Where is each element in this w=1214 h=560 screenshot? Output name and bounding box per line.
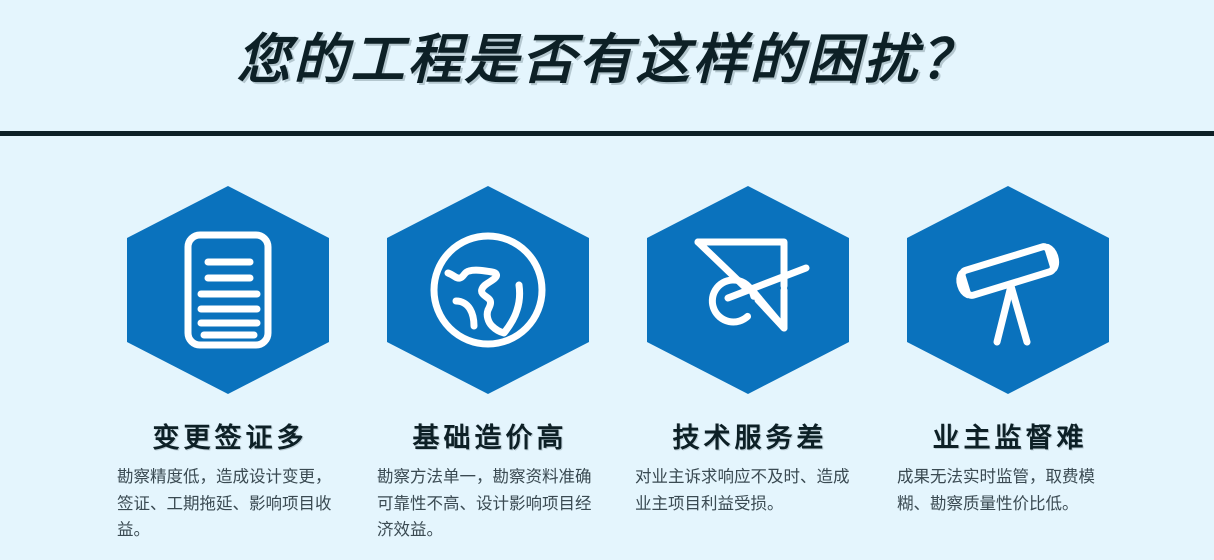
page-title: 您的工程是否有这样的困扰？: [237, 26, 978, 94]
card-title: 基础造价高: [409, 416, 568, 455]
hexagon-badge: [907, 186, 1109, 394]
card-description: 勘察方法单一，勘察资料准确可靠性不高、设计影响项目经济效益。: [377, 464, 599, 544]
card-description: 对业主诉求响应不及时、造成业主项目利益受损。: [635, 464, 861, 517]
document-lines-icon: [174, 228, 282, 352]
card-title: 技术服务差: [669, 416, 828, 455]
card-description: 勘察精度低，造成设计变更，签证、工期拖延、影响项目收益。: [117, 464, 339, 544]
theodolite-survey-icon: [684, 228, 812, 352]
globe-icon: [426, 228, 550, 352]
hexagon-badge: [127, 186, 329, 394]
feature-card-row: 变更签证多 勘察精度低，造成设计变更，签证、工期拖延、影响项目收益。 基础造价高…: [0, 186, 1214, 544]
promo-banner: 您的工程是否有这样的困扰？ 变更签证多: [0, 0, 1214, 560]
card-description: 成果无法实时监管，取费模糊、勘察质量性价比低。: [897, 464, 1119, 517]
card-title: 变更签证多: [149, 416, 308, 455]
feature-card: 业主监督难 成果无法实时监管，取费模糊、勘察质量性价比低。: [892, 186, 1124, 544]
hexagon-badge: [647, 186, 849, 394]
horizontal-divider: [0, 131, 1214, 136]
feature-card: 变更签证多 勘察精度低，造成设计变更，签证、工期拖延、影响项目收益。: [112, 186, 344, 544]
headline-container: 您的工程是否有这样的困扰？: [0, 26, 1214, 94]
feature-card: 基础造价高 勘察方法单一，勘察资料准确可靠性不高、设计影响项目经济效益。: [372, 186, 604, 544]
card-title: 业主监督难: [929, 416, 1088, 455]
feature-card: 技术服务差 对业主诉求响应不及时、造成业主项目利益受损。: [632, 186, 864, 544]
hexagon-badge: [387, 186, 589, 394]
telescope-icon: [945, 228, 1071, 352]
